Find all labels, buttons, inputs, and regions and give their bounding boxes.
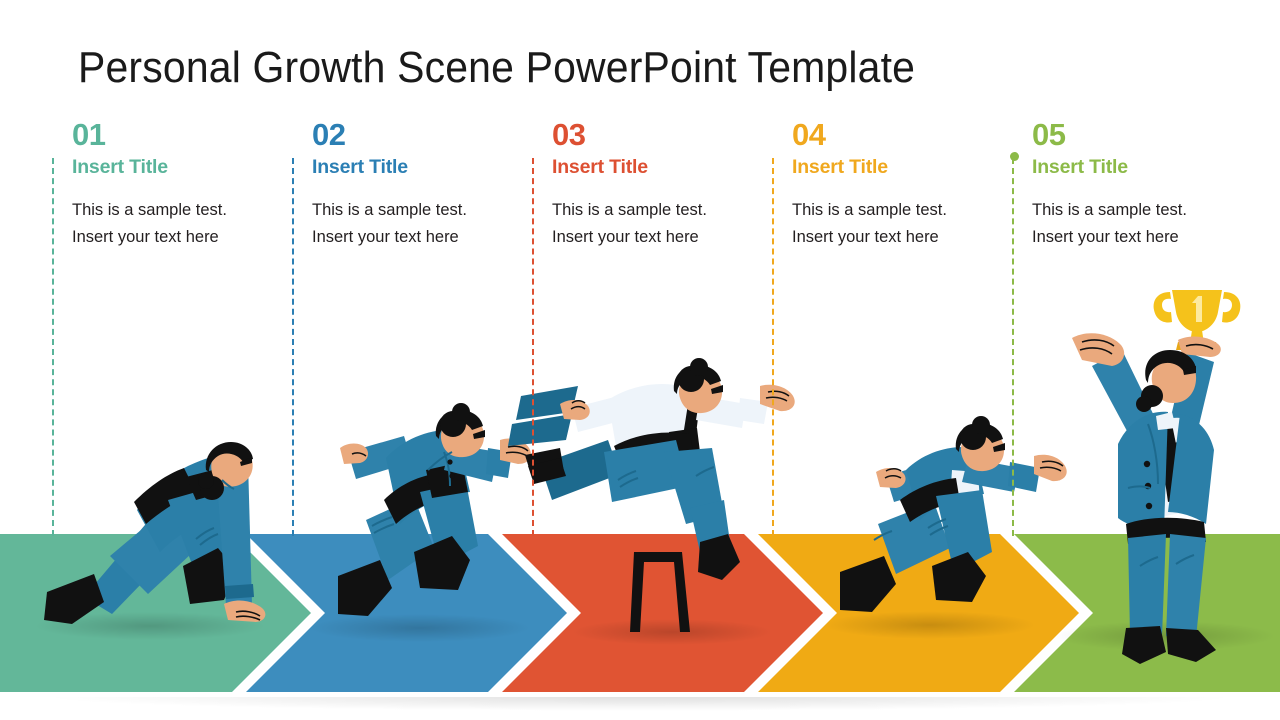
page-title: Personal Growth Scene PowerPoint Templat…: [78, 42, 915, 94]
step-divider-02: [292, 158, 294, 536]
step-title: Insert Title: [1032, 154, 1250, 180]
chevron-segment-01: [0, 534, 311, 692]
step-body: This is a sample test. Insert your text …: [552, 197, 770, 251]
step-column-03[interactable]: 03 Insert Title This is a sample test. I…: [532, 118, 770, 251]
step-title: Insert Title: [72, 154, 290, 180]
step-column-01[interactable]: 01 Insert Title This is a sample test. I…: [52, 118, 290, 251]
step-body-line-2: Insert your text here: [72, 224, 290, 251]
step-body: This is a sample test. Insert your text …: [72, 197, 290, 251]
step-body: This is a sample test. Insert your text …: [792, 197, 1010, 251]
step-divider-05: [1012, 158, 1014, 536]
step-body: This is a sample test. Insert your text …: [1032, 197, 1250, 251]
step-divider-03: [532, 158, 534, 536]
step-body-line-1: This is a sample test.: [1032, 197, 1250, 224]
step-body-line-2: Insert your text here: [792, 224, 1010, 251]
step-body-line-1: This is a sample test.: [312, 197, 530, 224]
step-body-line-1: This is a sample test.: [72, 197, 290, 224]
step-number: 04: [792, 118, 1010, 152]
step-title: Insert Title: [792, 154, 1010, 180]
step-number: 03: [552, 118, 770, 152]
step-body-line-2: Insert your text here: [1032, 224, 1250, 251]
step-divider-04: [772, 158, 774, 536]
step-body-line-2: Insert your text here: [312, 224, 530, 251]
slide-bottom-shadow: [40, 697, 1240, 711]
step-column-05[interactable]: 05 Insert Title This is a sample test. I…: [1012, 118, 1250, 251]
step-body-line-1: This is a sample test.: [792, 197, 1010, 224]
step-divider-01: [52, 158, 54, 536]
step-column-04[interactable]: 04 Insert Title This is a sample test. I…: [772, 118, 1010, 251]
step-number: 01: [72, 118, 290, 152]
step-number: 05: [1032, 118, 1250, 152]
step-number: 02: [312, 118, 530, 152]
step-divider-dot: [1010, 152, 1019, 161]
chevron-process-band: [0, 534, 1280, 692]
step-title: Insert Title: [552, 154, 770, 180]
step-column-02[interactable]: 02 Insert Title This is a sample test. I…: [292, 118, 530, 251]
slide-canvas: Personal Growth Scene PowerPoint Templat…: [0, 0, 1280, 720]
step-body-line-1: This is a sample test.: [552, 197, 770, 224]
step-title: Insert Title: [312, 154, 530, 180]
trophy-icon: [1154, 290, 1241, 350]
step-body: This is a sample test. Insert your text …: [312, 197, 530, 251]
step-body-line-2: Insert your text here: [552, 224, 770, 251]
